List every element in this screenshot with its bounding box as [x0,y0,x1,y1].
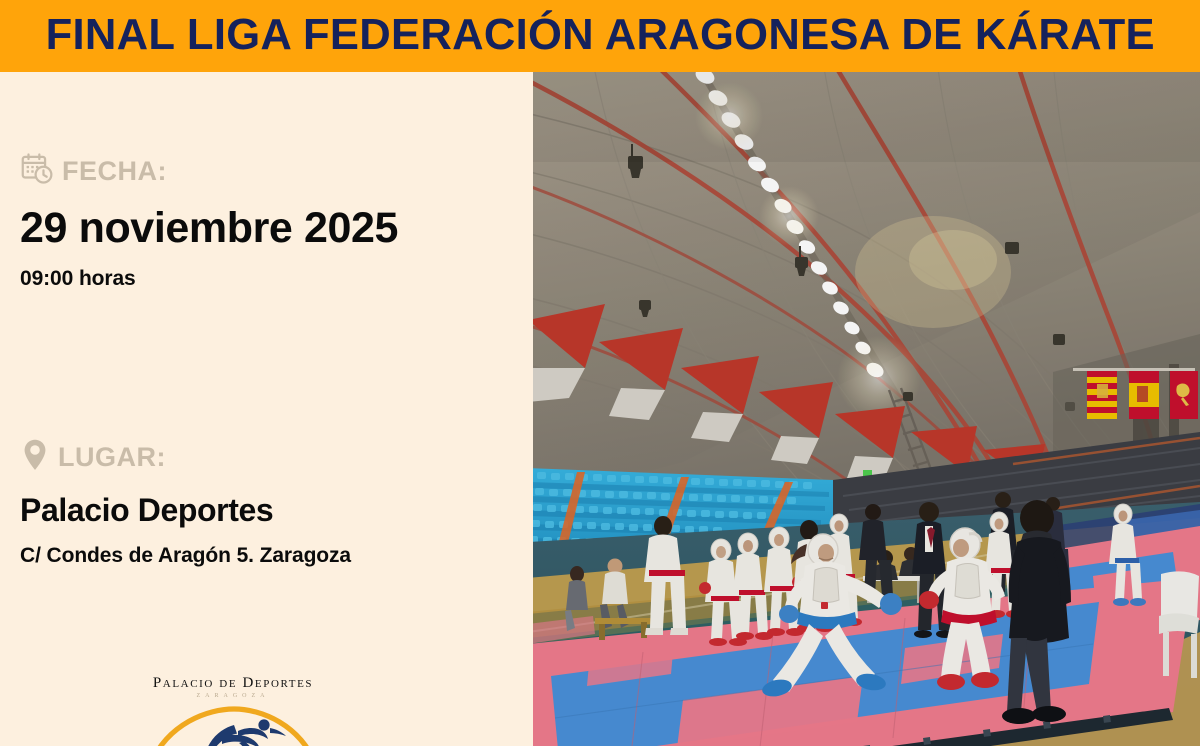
place-block: LUGAR: Palacio Deportes C/ Condes de Ara… [20,440,510,567]
event-date: 29 noviembre 2025 [20,206,510,251]
date-block: FECHA: 29 noviembre 2025 09:00 horas [20,154,510,290]
map-pin-icon [20,438,50,477]
logo-title: Palacio de Deportes [153,676,313,691]
runner-figure-icon [138,701,328,746]
venue-address: C/ Condes de Aragón 5. Zaragoza [20,544,510,567]
logo-subtitle: ZARAGOZA [197,693,270,699]
palacio-de-deportes-logo: Palacio de Deportes ZARAGOZA [133,676,333,746]
poster-header-band: FINAL LIGA FEDERACIÓN ARAGONESA DE KÁRAT… [0,0,1200,72]
place-label-row: LUGAR: [20,440,510,474]
venue-name: Palacio Deportes [20,494,510,528]
calendar-clock-icon [20,152,54,191]
date-label: FECHA: [62,158,167,185]
event-poster: FINAL LIGA FEDERACIÓN ARAGONESA DE KÁRAT… [0,0,1200,746]
karate-competition-photo [533,72,1200,746]
date-label-row: FECHA: [20,154,510,188]
event-time: 09:00 horas [20,267,510,290]
place-label: LUGAR: [58,444,166,471]
event-info-panel: FECHA: 29 noviembre 2025 09:00 horas LUG… [0,72,533,746]
page-title: FINAL LIGA FEDERACIÓN ARAGONESA DE KÁRAT… [45,13,1154,59]
